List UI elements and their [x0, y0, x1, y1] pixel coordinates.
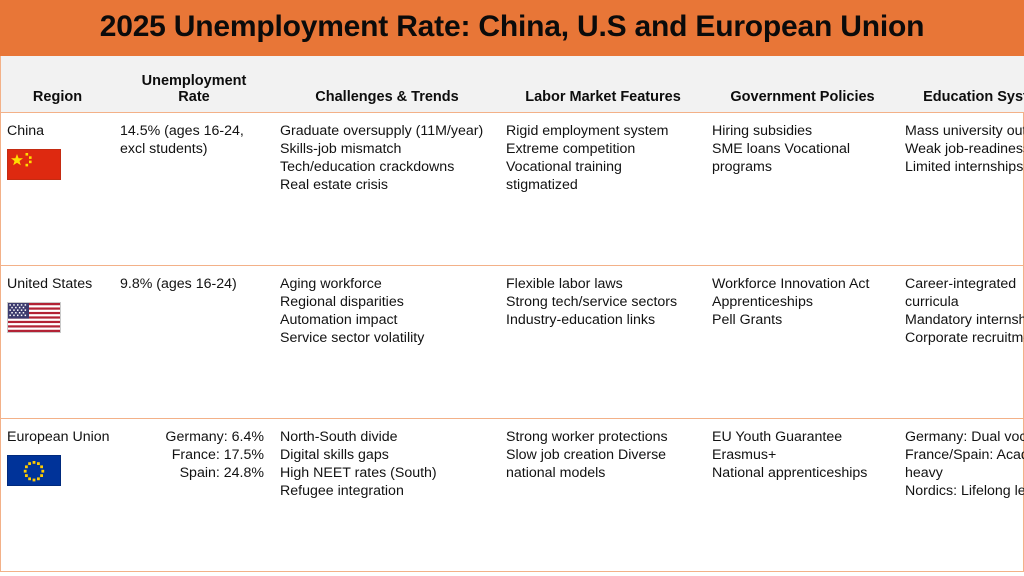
china-flag	[7, 149, 61, 180]
challenge-item: Real estate crisis	[280, 177, 494, 195]
education-item: Limited internships	[905, 159, 1024, 177]
labor-item: Extreme competition	[506, 141, 700, 159]
column-header-unemployment-rate: Unemployment Rate	[114, 56, 274, 113]
eu-flag	[7, 455, 61, 486]
slide-root: 2025 Unemployment Rate: China, U.S and E…	[0, 0, 1024, 576]
challenge-item: Skills-job mismatch	[280, 141, 494, 159]
cell-government-european-union: EU Youth Guarantee Erasmus+ National app…	[706, 419, 899, 571]
page-title: 2025 Unemployment Rate: China, U.S and E…	[100, 12, 925, 44]
policy-item: Workforce Innovation Act	[712, 276, 893, 294]
cell-region-united-states: United States	[1, 266, 114, 419]
challenge-item: High NEET rates (South)	[280, 465, 494, 483]
labor-item: Strong tech/service sectors	[506, 294, 700, 312]
education-item: Mandatory internships	[905, 312, 1024, 330]
challenge-item: Aging workforce	[280, 276, 494, 294]
challenge-item: Service sector volatility	[280, 330, 494, 348]
cell-rate-china: 14.5% (ages 16-24, excl students)	[114, 113, 274, 266]
cell-government-china: Hiring subsidies SME loans Vocational pr…	[706, 113, 899, 266]
cell-labor-european-union: Strong worker protections Slow job creat…	[500, 419, 706, 571]
education-item: Mass university output	[905, 123, 1024, 141]
challenge-item: Tech/education crackdowns	[280, 159, 494, 177]
rate-line: Spain: 24.8%	[120, 465, 264, 483]
table-row: European Union	[1, 419, 1024, 571]
education-item: Career-integrated	[905, 276, 1024, 294]
rate-line: France: 17.5%	[120, 447, 264, 465]
china-flag-stars-icon	[8, 150, 60, 179]
labor-item: Flexible labor laws	[506, 276, 700, 294]
comparison-table-container: Region Unemployment Rate Challenges & Tr…	[0, 56, 1024, 572]
education-item: France/Spain: Academic-	[905, 447, 1024, 465]
comparison-table: Region Unemployment Rate Challenges & Tr…	[1, 56, 1024, 571]
labor-item: Vocational training	[506, 159, 700, 177]
column-header-government-label: Government Policies	[730, 89, 874, 105]
policy-item: Apprenticeships	[712, 294, 893, 312]
labor-item: Industry-education links	[506, 312, 700, 330]
cell-challenges-china: Graduate oversupply (11M/year) Skills-jo…	[274, 113, 500, 266]
labor-item: Rigid employment system	[506, 123, 700, 141]
education-item: Corporate recruitment	[905, 330, 1024, 348]
policy-item: SME loans Vocational	[712, 141, 893, 159]
labor-item: national models	[506, 465, 700, 483]
table-header-row: Region Unemployment Rate Challenges & Tr…	[1, 56, 1024, 113]
column-header-challenges: Challenges & Trends	[274, 56, 500, 113]
rate-line: 14.5% (ages 16-24,	[120, 123, 268, 141]
policy-item: Hiring subsidies	[712, 123, 893, 141]
column-header-government-policies: Government Policies	[706, 56, 899, 113]
cell-education-european-union: Germany: Dual vocational France/Spain: A…	[899, 419, 1024, 571]
challenge-item: Refugee integration	[280, 483, 494, 501]
education-item: Germany: Dual vocational	[905, 429, 1024, 447]
labor-item: Slow job creation Diverse	[506, 447, 700, 465]
policy-item: Pell Grants	[712, 312, 893, 330]
eu-flag-stars-icon	[8, 456, 60, 485]
policy-item: National apprenticeships	[712, 465, 893, 483]
education-item: heavy	[905, 465, 1024, 483]
policy-item: EU Youth Guarantee	[712, 429, 893, 447]
cell-challenges-united-states: Aging workforce Regional disparities Aut…	[274, 266, 500, 419]
column-header-labor-label: Labor Market Features	[525, 89, 681, 105]
labor-item: stigmatized	[506, 177, 700, 195]
cell-region-china: China	[1, 113, 114, 266]
challenge-item: Graduate oversupply (11M/year)	[280, 123, 494, 141]
challenge-item: North-South divide	[280, 429, 494, 447]
challenge-item: Digital skills gaps	[280, 447, 494, 465]
labor-item: Strong worker protections	[506, 429, 700, 447]
education-item: Weak job-readiness	[905, 141, 1024, 159]
rate-line: Germany: 6.4%	[120, 429, 264, 447]
column-header-region: Region	[1, 56, 114, 113]
region-label: China	[7, 123, 108, 141]
cell-government-united-states: Workforce Innovation Act Apprenticeships…	[706, 266, 899, 419]
table-row: China 14.5% (ages 16-24,	[1, 113, 1024, 266]
cell-labor-china: Rigid employment system Extreme competit…	[500, 113, 706, 266]
column-header-rate-line1: Unemployment	[118, 73, 270, 90]
education-item: curricula	[905, 294, 1024, 312]
challenge-item: Automation impact	[280, 312, 494, 330]
table-row: United States	[1, 266, 1024, 419]
usa-flag-icon	[8, 303, 60, 332]
column-header-region-label: Region	[33, 89, 82, 105]
column-header-education-label: Education System	[923, 89, 1024, 105]
title-banner: 2025 Unemployment Rate: China, U.S and E…	[0, 0, 1024, 56]
policy-item: Erasmus+	[712, 447, 893, 465]
region-label: European Union	[7, 429, 108, 447]
column-header-education-system: Education System	[899, 56, 1024, 113]
cell-education-united-states: Career-integrated curricula Mandatory in…	[899, 266, 1024, 419]
column-header-rate-line2: Rate	[118, 89, 270, 106]
column-header-labor-market: Labor Market Features	[500, 56, 706, 113]
challenge-item: Regional disparities	[280, 294, 494, 312]
rate-line: excl students)	[120, 141, 268, 159]
cell-challenges-european-union: North-South divide Digital skills gaps H…	[274, 419, 500, 571]
region-label: United States	[7, 276, 108, 294]
cell-rate-european-union: Germany: 6.4% France: 17.5% Spain: 24.8%	[114, 419, 274, 571]
cell-education-china: Mass university output Weak job-readines…	[899, 113, 1024, 266]
cell-rate-united-states: 9.8% (ages 16-24)	[114, 266, 274, 419]
usa-flag	[7, 302, 61, 333]
table-header: Region Unemployment Rate Challenges & Tr…	[1, 56, 1024, 113]
policy-item: programs	[712, 159, 893, 177]
column-header-challenges-label: Challenges & Trends	[315, 89, 458, 105]
rate-line: 9.8% (ages 16-24)	[120, 276, 268, 294]
table-body: China 14.5% (ages 16-24,	[1, 113, 1024, 572]
education-item: Nordics: Lifelong learning	[905, 483, 1024, 501]
cell-region-european-union: European Union	[1, 419, 114, 571]
cell-labor-united-states: Flexible labor laws Strong tech/service …	[500, 266, 706, 419]
